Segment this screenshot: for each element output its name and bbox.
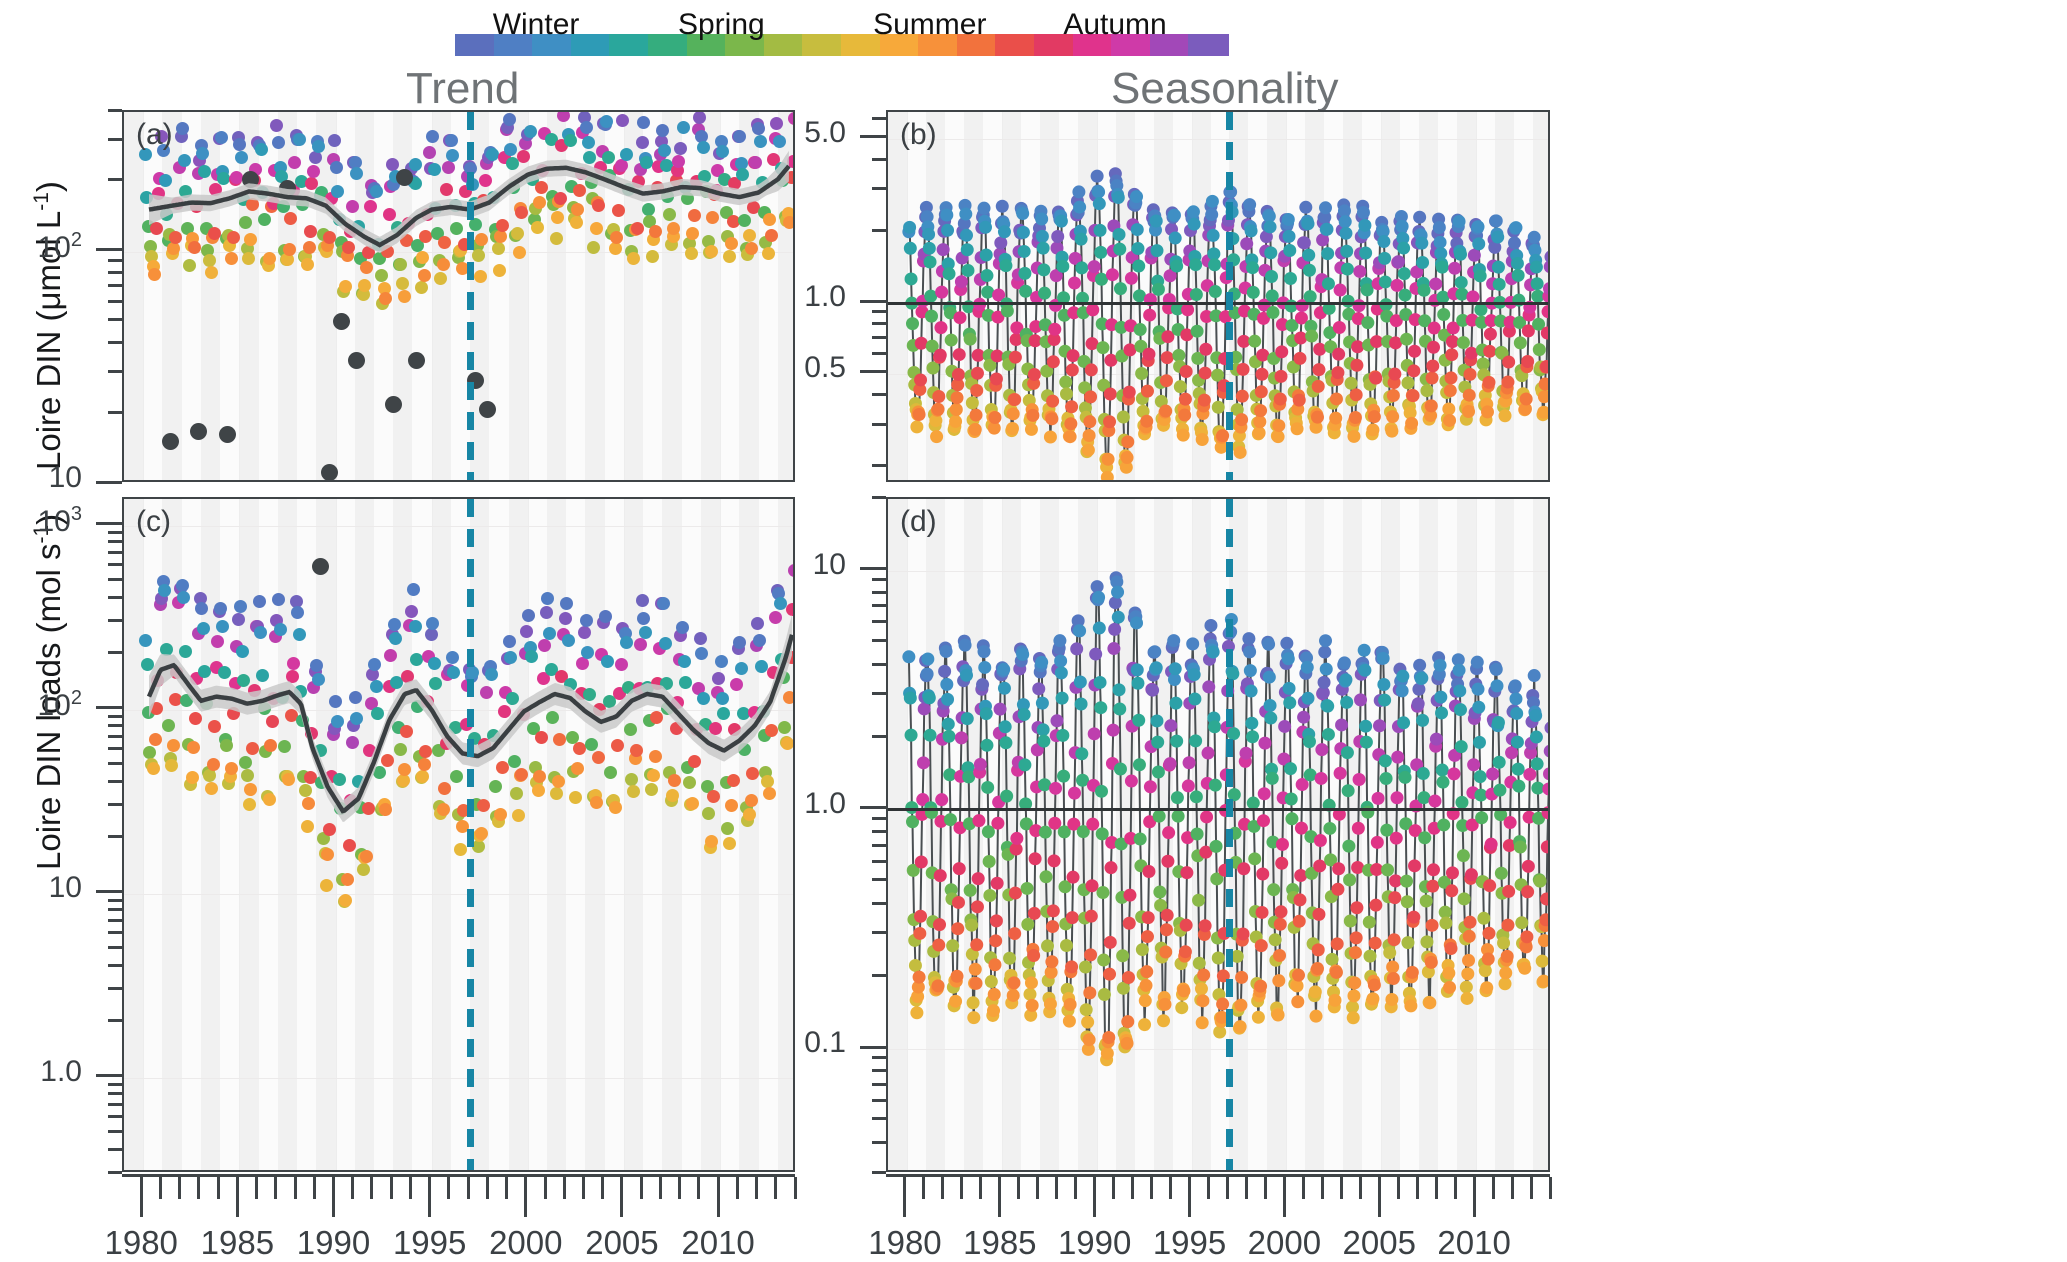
data-point xyxy=(1427,341,1440,354)
data-point xyxy=(1148,645,1161,658)
data-point xyxy=(1027,949,1040,962)
data-point xyxy=(1018,758,1031,771)
data-point xyxy=(1477,912,1490,925)
y-axis-minor-tick xyxy=(108,946,122,949)
data-point xyxy=(1400,875,1413,888)
data-point xyxy=(1267,883,1280,896)
data-point xyxy=(1499,966,1512,979)
data-point xyxy=(1192,894,1205,907)
x-axis-minor-tick xyxy=(1055,1177,1058,1199)
data-point xyxy=(1060,387,1073,400)
data-point xyxy=(1330,392,1343,405)
data-point xyxy=(913,971,926,984)
y-axis-minor-tick xyxy=(108,341,122,344)
data-point xyxy=(1169,232,1182,245)
data-point xyxy=(1121,435,1134,448)
data-point xyxy=(1136,943,1149,956)
data-point xyxy=(1141,930,1154,943)
data-point xyxy=(1063,1015,1076,1028)
data-point xyxy=(1195,982,1208,995)
data-point xyxy=(978,661,991,674)
data-point xyxy=(1028,907,1041,920)
data-point xyxy=(1023,988,1036,1001)
data-point xyxy=(1454,248,1467,261)
data-point xyxy=(1188,693,1201,706)
y-axis-minor-tick xyxy=(872,229,886,232)
data-point xyxy=(1380,298,1393,311)
data-point xyxy=(1284,272,1297,285)
data-point xyxy=(1423,996,1436,1009)
data-point xyxy=(1158,998,1171,1011)
data-point xyxy=(1125,272,1138,285)
y-axis-major-tick xyxy=(96,522,122,525)
data-point xyxy=(1130,616,1143,629)
data-point xyxy=(1331,883,1344,896)
data-point xyxy=(980,707,993,720)
y-axis-minor-tick xyxy=(872,336,886,339)
legend-label-winter: Winter xyxy=(446,8,626,42)
data-point xyxy=(1314,834,1327,847)
data-point xyxy=(1396,220,1409,233)
data-point xyxy=(1420,384,1433,397)
data-point xyxy=(1502,885,1515,898)
data-point xyxy=(1072,185,1085,198)
x-axis-line xyxy=(886,1174,1550,1177)
data-point xyxy=(1291,422,1304,435)
data-point xyxy=(966,396,979,409)
data-point xyxy=(1401,376,1414,389)
data-point xyxy=(1086,303,1099,316)
data-point xyxy=(1180,919,1193,932)
data-point xyxy=(914,910,927,923)
y-axis-minor-tick xyxy=(872,1099,886,1102)
data-point xyxy=(1113,243,1126,256)
data-point xyxy=(1178,409,1191,422)
data-point xyxy=(1383,946,1396,959)
data-point xyxy=(1026,999,1039,1012)
data-point xyxy=(1045,412,1058,425)
data-point xyxy=(1150,244,1163,257)
data-point xyxy=(1142,348,1155,361)
data-point xyxy=(953,348,966,361)
y-axis-major-tick xyxy=(96,1074,122,1077)
data-point xyxy=(1401,895,1414,908)
data-point xyxy=(1377,652,1390,665)
data-point xyxy=(1518,962,1531,975)
data-point xyxy=(1096,341,1109,354)
x-axis-minor-tick xyxy=(197,1177,200,1199)
x-axis-minor-tick xyxy=(1359,1177,1362,1199)
data-point xyxy=(1140,965,1153,978)
data-point xyxy=(1191,325,1204,338)
data-point xyxy=(1180,365,1193,378)
x-axis-major-tick xyxy=(236,1177,239,1217)
data-point xyxy=(1427,863,1440,876)
data-point xyxy=(1460,981,1473,994)
data-point xyxy=(1183,756,1196,769)
y-axis-minor-tick xyxy=(108,109,122,112)
data-point xyxy=(1530,261,1543,274)
x-axis-minor-tick xyxy=(1036,1177,1039,1199)
data-point xyxy=(972,814,985,827)
data-point xyxy=(1207,229,1220,242)
x-axis-minor-tick xyxy=(922,1177,925,1199)
data-point xyxy=(1021,918,1034,931)
data-point xyxy=(910,1006,923,1019)
data-point xyxy=(1066,911,1079,924)
data-point xyxy=(1373,719,1386,732)
data-point xyxy=(1415,672,1428,685)
data-point xyxy=(1206,195,1219,208)
data-point xyxy=(1075,698,1088,711)
data-point xyxy=(1529,709,1542,722)
y-axis-title-din-concentration: Loire DIN (μmol L-1) xyxy=(30,181,68,470)
y-axis-minor-tick xyxy=(872,322,886,325)
data-point xyxy=(1475,811,1488,824)
data-point xyxy=(1088,260,1101,273)
data-point xyxy=(1199,367,1212,380)
x-axis-tick-label: 2010 xyxy=(638,1224,798,1262)
data-point xyxy=(1461,992,1474,1005)
data-point xyxy=(1542,782,1550,795)
data-point xyxy=(1098,988,1111,1001)
data-point xyxy=(1425,956,1438,969)
x-axis-minor-tick xyxy=(1511,1177,1514,1199)
x-axis-minor-tick xyxy=(1454,1177,1457,1199)
data-point xyxy=(1520,930,1533,943)
y-axis-minor-tick xyxy=(108,1083,122,1086)
data-point xyxy=(1106,268,1119,281)
data-point xyxy=(1283,696,1296,709)
data-point xyxy=(1065,400,1078,413)
data-point xyxy=(1199,343,1212,356)
data-point xyxy=(1407,911,1420,924)
data-point xyxy=(1245,224,1258,237)
data-point xyxy=(1253,415,1266,428)
data-point xyxy=(906,317,919,330)
data-point xyxy=(1509,692,1522,705)
data-point xyxy=(1313,343,1326,356)
y-axis-minor-tick xyxy=(872,158,886,161)
data-point xyxy=(987,1004,1000,1017)
data-point xyxy=(1480,981,1493,994)
data-point xyxy=(1521,355,1534,368)
data-point xyxy=(972,872,985,885)
y-axis-tick-label: 103 xyxy=(0,503,82,539)
data-point xyxy=(1142,911,1155,924)
data-point xyxy=(1285,812,1298,825)
x-axis-minor-tick xyxy=(755,1177,758,1199)
y-axis-minor-tick xyxy=(108,411,122,414)
data-point xyxy=(1075,233,1088,246)
y-axis-minor-tick xyxy=(872,817,886,820)
data-point xyxy=(1533,343,1546,356)
data-point xyxy=(1021,882,1034,895)
data-point xyxy=(1283,244,1296,257)
data-point xyxy=(1248,852,1261,865)
data-point xyxy=(932,390,945,403)
y-axis-tick-label: 10 xyxy=(0,871,82,905)
y-axis-minor-tick xyxy=(108,1019,122,1022)
x-axis-minor-tick xyxy=(563,1177,566,1199)
data-point xyxy=(983,855,996,868)
data-point xyxy=(1234,999,1247,1012)
data-point xyxy=(978,202,991,215)
data-point xyxy=(1093,197,1106,210)
data-point xyxy=(1420,894,1433,907)
data-point xyxy=(1094,701,1107,714)
data-point xyxy=(1245,717,1258,730)
column-title-trend: Trend xyxy=(406,64,519,114)
data-point xyxy=(1297,711,1310,724)
data-point xyxy=(923,691,936,704)
data-point xyxy=(1426,359,1439,372)
data-point xyxy=(1085,910,1098,923)
data-point xyxy=(1331,937,1344,950)
x-axis-major-tick xyxy=(332,1177,335,1217)
data-point xyxy=(1531,277,1544,290)
data-point xyxy=(1095,785,1108,798)
data-point xyxy=(1378,694,1391,707)
data-point xyxy=(951,391,964,404)
data-point xyxy=(1413,659,1426,672)
y-axis-minor-tick xyxy=(108,284,122,287)
data-point xyxy=(1169,697,1182,710)
y-axis-minor-tick xyxy=(108,540,122,543)
data-point xyxy=(1207,646,1220,659)
data-point xyxy=(1236,390,1249,403)
data-point xyxy=(1418,831,1431,844)
data-point xyxy=(969,963,982,976)
data-point xyxy=(1114,282,1127,295)
data-point xyxy=(1175,1001,1188,1014)
data-point xyxy=(1083,429,1096,442)
x-axis-minor-tick xyxy=(1340,1177,1343,1199)
data-point xyxy=(1472,701,1485,714)
data-point xyxy=(1493,278,1506,291)
seasonality-curve xyxy=(888,499,1550,1172)
vertical-marker-1997 xyxy=(467,499,474,1170)
data-point xyxy=(1275,345,1288,358)
data-point xyxy=(1160,374,1173,387)
y-axis-minor-tick xyxy=(108,300,122,303)
data-point xyxy=(1007,976,1020,989)
y-axis-minor-tick xyxy=(108,780,122,783)
data-point xyxy=(1188,668,1201,681)
data-point xyxy=(1481,405,1494,418)
y-axis-minor-tick xyxy=(108,178,122,181)
data-point xyxy=(1131,677,1144,690)
data-point xyxy=(959,208,972,221)
x-axis-minor-tick xyxy=(313,1177,316,1199)
data-point xyxy=(1458,892,1471,905)
data-point xyxy=(1273,949,1286,962)
data-point xyxy=(998,682,1011,695)
data-point xyxy=(1540,893,1550,906)
x-axis-minor-tick xyxy=(1074,1177,1077,1199)
data-point xyxy=(1472,683,1485,696)
data-point xyxy=(1208,258,1221,271)
data-point xyxy=(1462,954,1475,967)
data-point xyxy=(1472,237,1485,250)
data-point xyxy=(1312,363,1325,376)
data-point xyxy=(1323,822,1336,835)
data-point xyxy=(1079,960,1092,973)
data-point xyxy=(1528,669,1541,682)
data-point xyxy=(1131,223,1144,236)
data-point xyxy=(1541,840,1550,853)
data-point xyxy=(1322,277,1335,290)
x-axis-minor-tick xyxy=(774,1177,777,1199)
data-point xyxy=(1199,919,1212,932)
data-point xyxy=(1142,865,1155,878)
data-point xyxy=(1068,787,1081,800)
y-axis-minor-tick xyxy=(108,899,122,902)
data-point xyxy=(1472,220,1485,233)
data-point xyxy=(988,988,1001,1001)
data-point xyxy=(1202,680,1215,693)
data-point xyxy=(1272,430,1285,443)
x-axis-minor-tick xyxy=(217,1177,220,1199)
vertical-marker-1997 xyxy=(1226,112,1233,480)
data-point xyxy=(1399,289,1412,302)
data-point xyxy=(1278,720,1291,733)
data-point xyxy=(1493,756,1506,769)
data-point xyxy=(905,272,918,285)
x-axis-minor-tick xyxy=(1416,1177,1419,1199)
x-axis-minor-tick xyxy=(274,1177,277,1199)
data-point xyxy=(961,712,974,725)
y-axis-minor-tick xyxy=(872,352,886,355)
data-point xyxy=(905,729,918,742)
data-point xyxy=(1334,767,1347,780)
data-point xyxy=(1040,870,1053,883)
y-axis-tick-label: 1.0 xyxy=(706,787,846,821)
data-point xyxy=(1028,368,1041,381)
data-point xyxy=(1396,670,1409,683)
data-point xyxy=(1073,624,1086,637)
data-point xyxy=(1174,380,1187,393)
x-axis-minor-tick xyxy=(640,1177,643,1199)
x-axis-minor-tick xyxy=(794,1177,797,1199)
data-point xyxy=(1391,751,1404,764)
data-point xyxy=(965,919,978,932)
data-point xyxy=(1442,403,1455,416)
data-point xyxy=(1237,363,1250,376)
data-point xyxy=(1455,276,1468,289)
data-point xyxy=(1130,190,1143,203)
data-point xyxy=(1237,927,1250,940)
data-point xyxy=(1347,989,1360,1002)
data-point xyxy=(1204,619,1217,632)
data-point xyxy=(1434,659,1447,672)
data-point xyxy=(1269,933,1282,946)
data-point xyxy=(1509,679,1522,692)
data-point xyxy=(1471,656,1484,669)
data-point xyxy=(942,718,955,731)
data-point xyxy=(1413,211,1426,224)
data-point xyxy=(1114,763,1127,776)
data-point xyxy=(1140,415,1153,428)
data-point xyxy=(1350,388,1363,401)
data-point xyxy=(1312,943,1325,956)
data-point xyxy=(1044,997,1057,1010)
data-point xyxy=(1139,994,1152,1007)
data-point xyxy=(1386,410,1399,423)
data-point xyxy=(1512,780,1525,793)
data-point xyxy=(1108,623,1121,636)
data-point xyxy=(974,758,987,771)
y-axis-minor-tick xyxy=(108,1103,122,1106)
data-point xyxy=(1046,920,1059,933)
data-point xyxy=(1301,217,1314,230)
data-point xyxy=(1501,950,1514,963)
data-point xyxy=(1426,919,1439,932)
data-point xyxy=(1335,718,1348,731)
data-point xyxy=(1522,860,1535,873)
data-point xyxy=(1131,242,1144,255)
data-point xyxy=(970,384,983,397)
data-point xyxy=(921,653,934,666)
data-point xyxy=(1318,676,1331,689)
data-point xyxy=(949,995,962,1008)
x-axis-minor-tick xyxy=(178,1177,181,1199)
data-point xyxy=(1292,969,1305,982)
data-point xyxy=(1437,818,1450,831)
data-point xyxy=(1512,294,1525,307)
data-point xyxy=(1212,401,1225,414)
data-point xyxy=(996,200,1009,213)
x-axis-minor-tick xyxy=(409,1177,412,1199)
data-point xyxy=(943,267,956,280)
data-point xyxy=(969,977,982,990)
data-point xyxy=(1530,731,1543,744)
data-point xyxy=(971,367,984,380)
data-point xyxy=(1131,663,1144,676)
data-point xyxy=(1353,265,1366,278)
x-axis-minor-tick xyxy=(255,1177,258,1199)
data-point xyxy=(1161,351,1174,364)
data-point xyxy=(1319,634,1332,647)
data-point xyxy=(1448,262,1461,275)
data-point xyxy=(1416,714,1429,727)
data-point xyxy=(1141,385,1154,398)
data-point xyxy=(1416,256,1429,269)
data-point xyxy=(904,692,917,705)
y-axis-minor-tick xyxy=(872,735,886,738)
data-point xyxy=(1064,417,1077,430)
data-point xyxy=(1018,245,1031,258)
reference-line-one xyxy=(888,302,1548,305)
x-axis-major-tick xyxy=(1473,1177,1476,1217)
data-point xyxy=(1257,814,1270,827)
data-point xyxy=(1180,866,1193,879)
data-point xyxy=(1368,978,1381,991)
data-point xyxy=(1208,720,1221,733)
data-point xyxy=(1405,417,1418,430)
data-point xyxy=(940,645,953,658)
data-point xyxy=(967,996,980,1009)
data-point xyxy=(1084,948,1097,961)
data-point xyxy=(1345,377,1358,390)
data-point xyxy=(1150,214,1163,227)
y-axis-tick-label: 0.1 xyxy=(706,1026,846,1060)
y-axis-minor-tick xyxy=(872,496,886,499)
y-axis-minor-tick xyxy=(108,919,122,922)
data-point xyxy=(1101,1047,1114,1060)
data-point xyxy=(1116,949,1129,962)
data-point xyxy=(1537,406,1550,419)
